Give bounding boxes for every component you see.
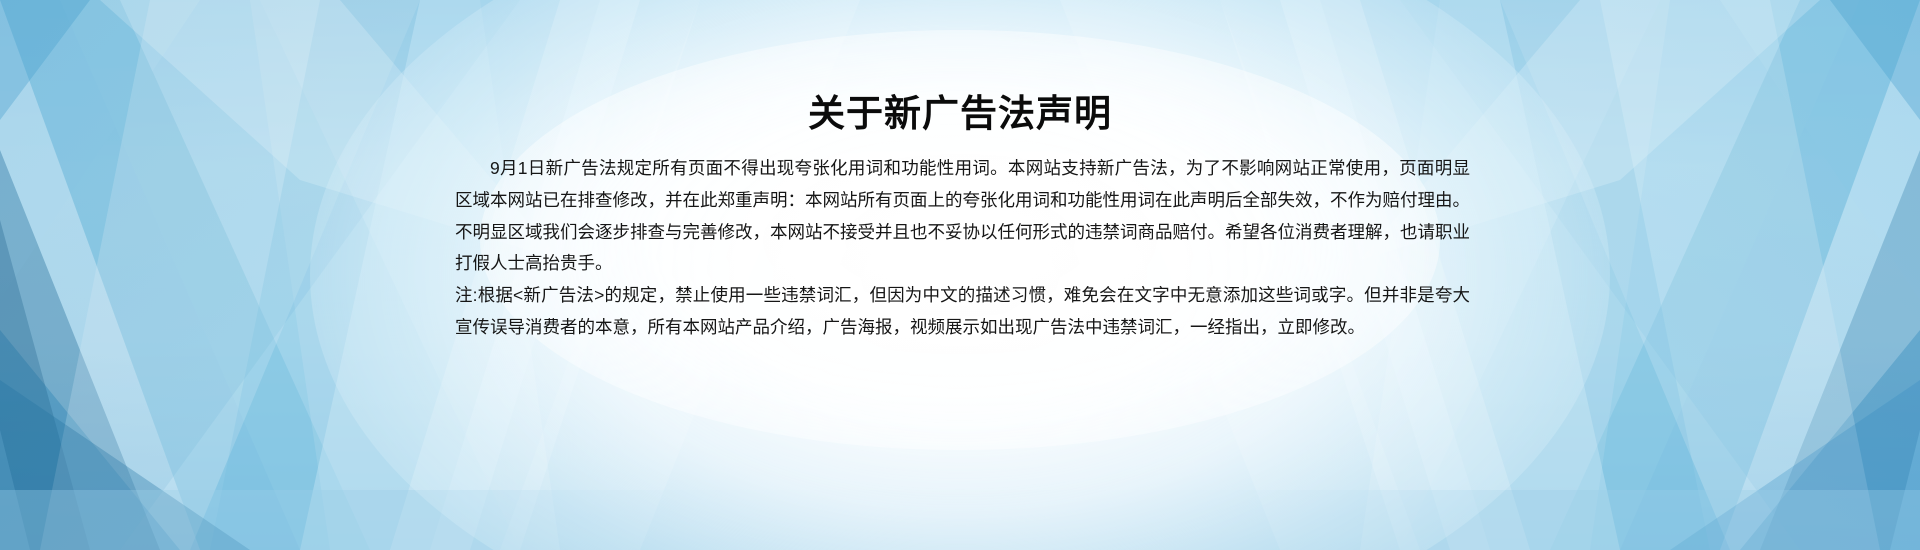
paragraph-main: 9月1日新广告法规定所有页面不得出现夸张化用词和功能性用词。本网站支持新广告法，… [455, 153, 1470, 280]
page-title: 关于新广告法声明 [0, 83, 1920, 137]
announcement-body: 9月1日新广告法规定所有页面不得出现夸张化用词和功能性用词。本网站支持新广告法，… [455, 153, 1470, 344]
paragraph-note: 注:根据<新广告法>的规定，禁止使用一些违禁词汇，但因为中文的描述习惯，难免会在… [455, 280, 1470, 344]
announcement-banner: 关于新广告法声明 9月1日新广告法规定所有页面不得出现夸张化用词和功能性用词。本… [0, 0, 1920, 550]
